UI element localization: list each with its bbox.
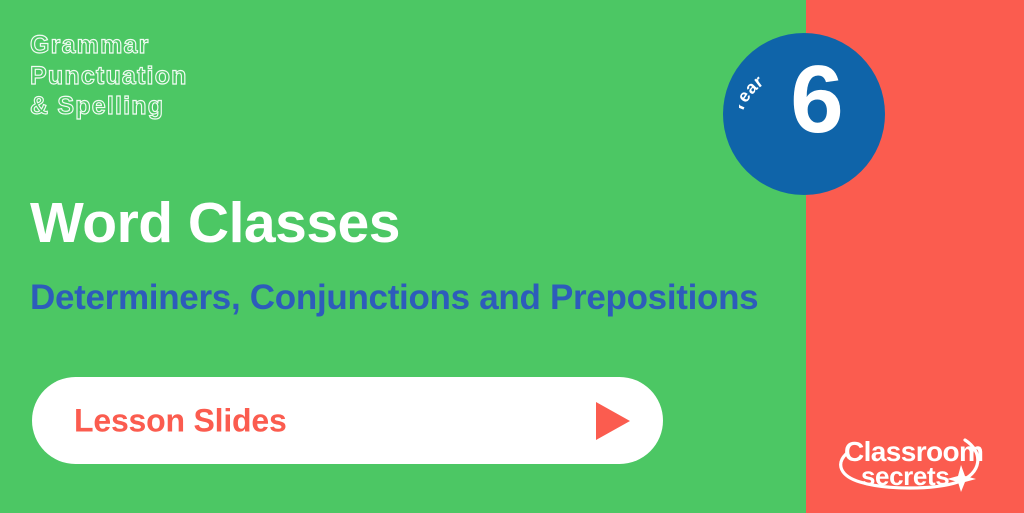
classroom-secrets-logo: Classroom secrets <box>834 430 986 492</box>
subject-heading-line-3: & Spelling <box>30 91 450 122</box>
subject-heading-line-2: Punctuation <box>30 61 450 92</box>
subject-heading-line-1: Grammar <box>30 30 450 61</box>
logo-line-2: secrets <box>861 461 949 491</box>
subject-heading: Grammar Punctuation & Spelling <box>30 30 450 122</box>
lesson-slides-button-label: Lesson Slides <box>74 402 287 439</box>
lesson-slide-cover: Grammar Punctuation & Spelling Word Clas… <box>0 0 1024 513</box>
year-badge: Year 6 <box>723 33 885 195</box>
logo-artwork: Classroom secrets <box>834 430 986 492</box>
page-subtitle: Determiners, Conjunctions and Prepositio… <box>30 278 758 318</box>
star-icon <box>947 465 976 492</box>
page-title: Word Classes <box>30 190 400 256</box>
play-triangle-icon <box>596 402 630 440</box>
year-badge-number: 6 <box>723 52 885 148</box>
lesson-slides-button[interactable]: Lesson Slides <box>32 377 663 464</box>
